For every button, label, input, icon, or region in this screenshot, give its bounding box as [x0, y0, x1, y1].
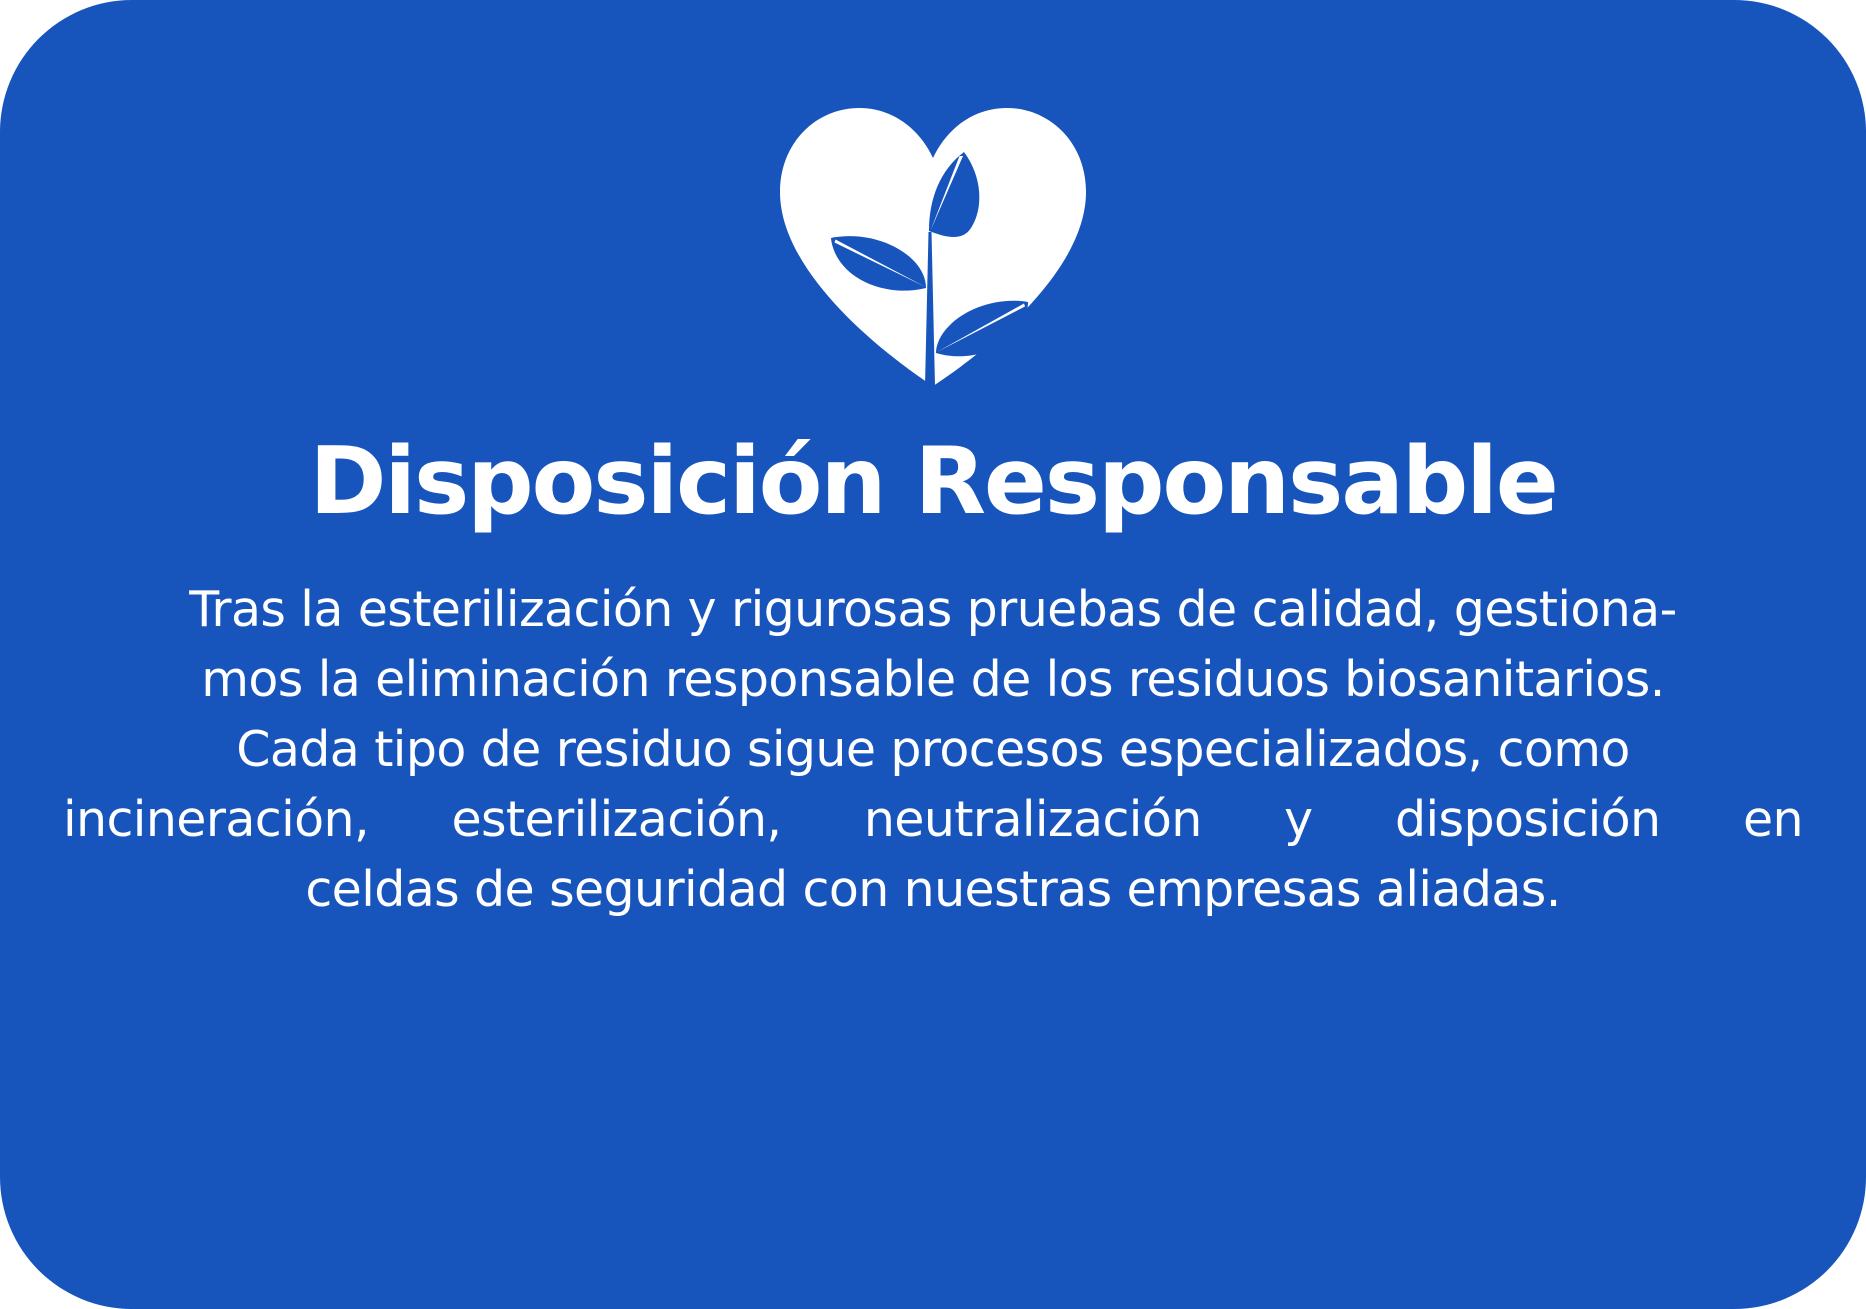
body-line-4-word-3: neutralización [864, 785, 1202, 855]
body-paragraph: Tras la esterilización y rigurosas prueb… [63, 575, 1803, 925]
page-title: Disposición Responsable [309, 432, 1556, 531]
body-line-5: celdas de seguridad con nuestras empresa… [63, 855, 1803, 925]
disposicion-responsable-card: Disposición Responsable Tras la esterili… [0, 0, 1866, 1309]
body-line-4-word-6: en [1743, 785, 1803, 855]
body-line-4-word-1: incineración, [63, 785, 369, 855]
body-line-4-word-5: disposición [1395, 785, 1660, 855]
body-line-4: incineración, esterilización, neutraliza… [63, 785, 1803, 855]
heart-with-plant-icon [768, 104, 1098, 386]
body-line-2: mos la eliminación responsable de los re… [63, 645, 1803, 715]
body-line-4-word-2: esterilización, [451, 785, 781, 855]
body-line-4-word-4: y [1284, 785, 1312, 855]
body-line-1: Tras la esterilización y rigurosas prueb… [63, 575, 1803, 645]
body-line-3: Cada tipo de residuo sigue procesos espe… [63, 715, 1803, 785]
